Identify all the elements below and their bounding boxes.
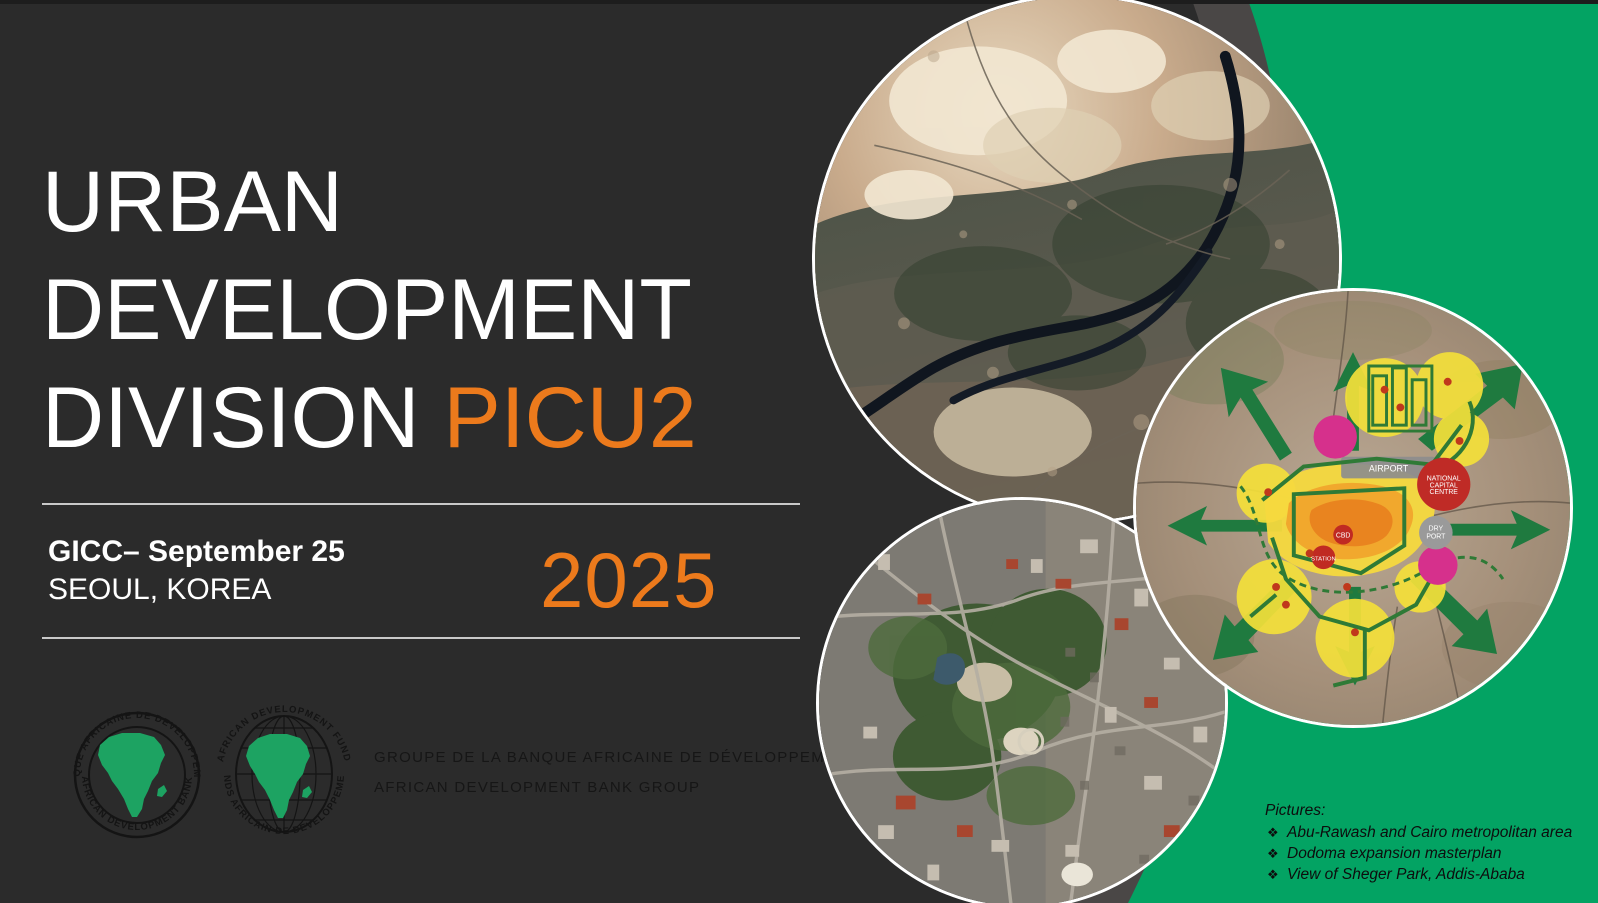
title-accent-picu2: PICU2	[443, 370, 696, 466]
credits-item-2-text: Dodoma expansion masterplan	[1287, 845, 1502, 862]
credits-item-3: ❖ View of Sheger Park, Addis-Ababa	[1265, 864, 1595, 885]
picture-credits: Pictures: ❖ Abu-Rawash and Cairo metropo…	[1265, 800, 1595, 885]
title-line-3: DIVISION PICU2	[42, 364, 812, 472]
africa-map-shape	[98, 733, 167, 817]
label-cbd: CBD	[1336, 533, 1351, 540]
credits-list: ❖ Abu-Rawash and Cairo metropolitan area…	[1265, 822, 1595, 885]
diamond-bullet-icon: ❖	[1267, 843, 1279, 864]
svg-text:CENTRE: CENTRE	[1430, 489, 1459, 496]
credits-item-1-text: Abu-Rawash and Cairo metropolitan area	[1287, 824, 1572, 841]
diamond-bullet-icon: ❖	[1267, 864, 1279, 885]
photo-dodoma-masterplan: AIRPORT	[1133, 288, 1573, 728]
credits-item-1: ❖ Abu-Rawash and Cairo metropolitan area	[1265, 822, 1595, 843]
divider-bottom	[42, 637, 800, 639]
dodoma-expansion-masterplan-image: AIRPORT	[1136, 291, 1570, 725]
node-magenta-southeast	[1418, 545, 1457, 584]
title-line-2: DEVELOPMENT	[42, 256, 812, 364]
svg-text:PORT: PORT	[1426, 534, 1446, 541]
diamond-bullet-icon: ❖	[1267, 822, 1279, 843]
title-line-1-text: URBAN	[42, 154, 343, 250]
title-line-3-text: DIVISION	[42, 370, 443, 466]
presentation-slide: URBAN DEVELOPMENT DIVISION PICU2 GICC– S…	[0, 0, 1598, 903]
african-development-bank-seal: BANQUE AFRICAINE DE DEVELOPPEMENT AFRICA…	[62, 693, 212, 853]
wordmark-french: GROUPE DE LA BANQUE AFRICAINE DE DÉVELOP…	[374, 748, 859, 768]
credits-item-2: ❖ Dodoma expansion masterplan	[1265, 843, 1595, 864]
wordmark-english: AFRICAN DEVELOPMENT BANK GROUP	[374, 778, 859, 798]
divider-top	[42, 503, 800, 505]
svg-text:DRY: DRY	[1429, 526, 1444, 533]
africa-map-shape	[246, 734, 312, 818]
label-airport: AIRPORT	[1369, 464, 1409, 474]
event-name-date: GICC– September 25	[48, 533, 568, 571]
top-edge-strip	[0, 0, 1598, 4]
label-station: STATION	[1311, 556, 1336, 562]
afdb-wordmark: GROUPE DE LA BANQUE AFRICAINE DE DÉVELOP…	[374, 748, 859, 798]
event-year: 2025	[540, 538, 718, 622]
afdb-logo-lockup: BANQUE AFRICAINE DE DEVELOPPEMENT AFRICA…	[62, 690, 859, 855]
title-line-1: URBAN	[42, 148, 812, 256]
african-development-fund-seal: AFRICAN DEVELOPMENT FUND FONDS AFRICAIN …	[208, 690, 360, 855]
event-details: GICC– September 25 SEOUL, KOREA	[48, 533, 568, 609]
credits-item-3-text: View of Sheger Park, Addis-Ababa	[1287, 866, 1525, 883]
credits-heading: Pictures:	[1265, 800, 1595, 821]
page-title: URBAN DEVELOPMENT DIVISION PICU2	[42, 148, 812, 472]
event-location: SEOUL, KOREA	[48, 571, 568, 609]
node-magenta-north	[1314, 415, 1357, 458]
title-line-2-text: DEVELOPMENT	[42, 262, 692, 358]
